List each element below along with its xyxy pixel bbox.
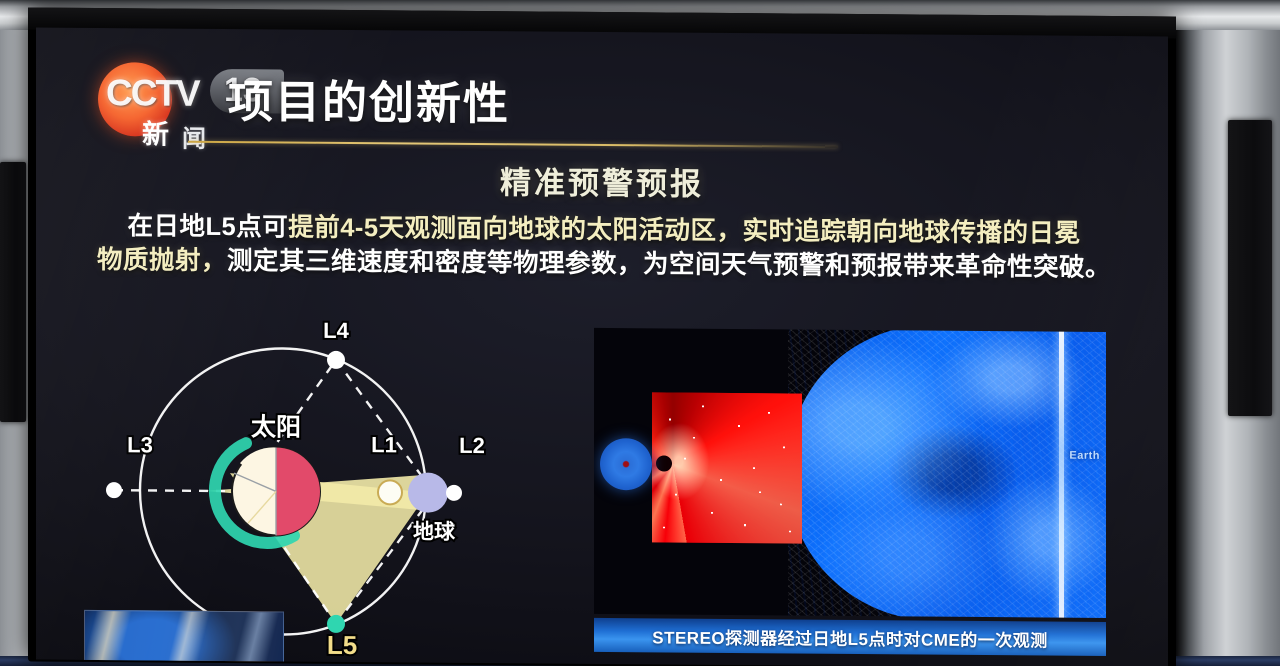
label-l5: L5 <box>327 630 357 660</box>
slide-body-text: 在日地L5点可提前4-5天观测面向地球的太阳活动区，实时追踪朝向地球传播的日冕 … <box>94 210 1114 285</box>
vertical-streak-artifact <box>1059 328 1064 618</box>
coronagraph-image <box>652 392 802 543</box>
label-l4: L4 <box>323 318 349 343</box>
body-segment: 在日地L5点可 <box>127 212 288 241</box>
earth-annotation-label: Earth <box>1069 450 1100 462</box>
earth-marker <box>408 472 448 512</box>
body-segment: 测定其三维速度和密度等物理参数，为空间天气预警和预报带来革命性突破。 <box>227 247 1111 282</box>
body-line-2: 物质抛射，测定其三维速度和密度等物理参数，为空间天气预警和预报带来革命性突破。 <box>94 244 1114 286</box>
stereo-imagery-panel: Earth <box>594 328 1106 618</box>
l1-marker <box>378 480 402 504</box>
cctv-wordmark: CCTV <box>106 72 199 115</box>
channel-name-char-2: 闻 <box>182 119 206 154</box>
heliospheric-imager-image: Earth <box>788 328 1106 618</box>
speaker-left <box>0 162 26 422</box>
sun-body <box>232 447 320 536</box>
lagrange-point-diagram: 太阳 地球 L1 L2 L3 L4 L5 <box>98 322 568 656</box>
picture-in-picture-thumbnail <box>84 610 284 666</box>
presentation-slide: CCTV 13 新 闻 项目的创新性 精准预警预报 在日地L5点可提前4-5天观… <box>36 28 1168 666</box>
occulting-disk-icon <box>656 455 672 471</box>
channel-name-char-1: 新 <box>142 112 169 151</box>
label-l3: L3 <box>127 432 153 457</box>
label-l2: L2 <box>459 433 485 458</box>
l4-marker <box>327 351 345 369</box>
image-caption-text: STEREO探测器经过日地L5点时对CME的一次观测 <box>652 623 1048 651</box>
speaker-right <box>1228 120 1272 416</box>
slide-title: 项目的创新性 <box>228 65 510 132</box>
slide-subtitle: 精准预警预报 <box>36 154 1168 208</box>
l3-marker <box>106 482 122 498</box>
tv-screen: CCTV 13 新 闻 项目的创新性 精准预警预报 在日地L5点可提前4-5天观… <box>36 28 1168 666</box>
body-segment: 物质抛射， <box>97 246 227 275</box>
body-segment: 提前4-5天观测面向地球的太阳活动区，实时追踪朝向地球传播的日冕 <box>288 214 1080 248</box>
euv-solar-disk-image <box>600 438 652 490</box>
label-l1: L1 <box>371 432 397 457</box>
label-earth: 地球 <box>413 520 456 544</box>
television-frame: CCTV 13 新 闻 项目的创新性 精准预警预报 在日地L5点可提前4-5天观… <box>28 7 1176 666</box>
line-l4-earth <box>336 360 428 485</box>
coronagraph-starfield <box>652 392 802 543</box>
label-sun: 太阳 <box>251 413 301 441</box>
pip-light-streaks <box>84 610 284 666</box>
screenshot-stage: CCTV 13 新 闻 项目的创新性 精准预警预报 在日地L5点可提前4-5天观… <box>0 0 1280 666</box>
l2-marker <box>446 485 462 501</box>
image-caption-bar: STEREO探测器经过日地L5点时对CME的一次观测 <box>594 618 1106 656</box>
